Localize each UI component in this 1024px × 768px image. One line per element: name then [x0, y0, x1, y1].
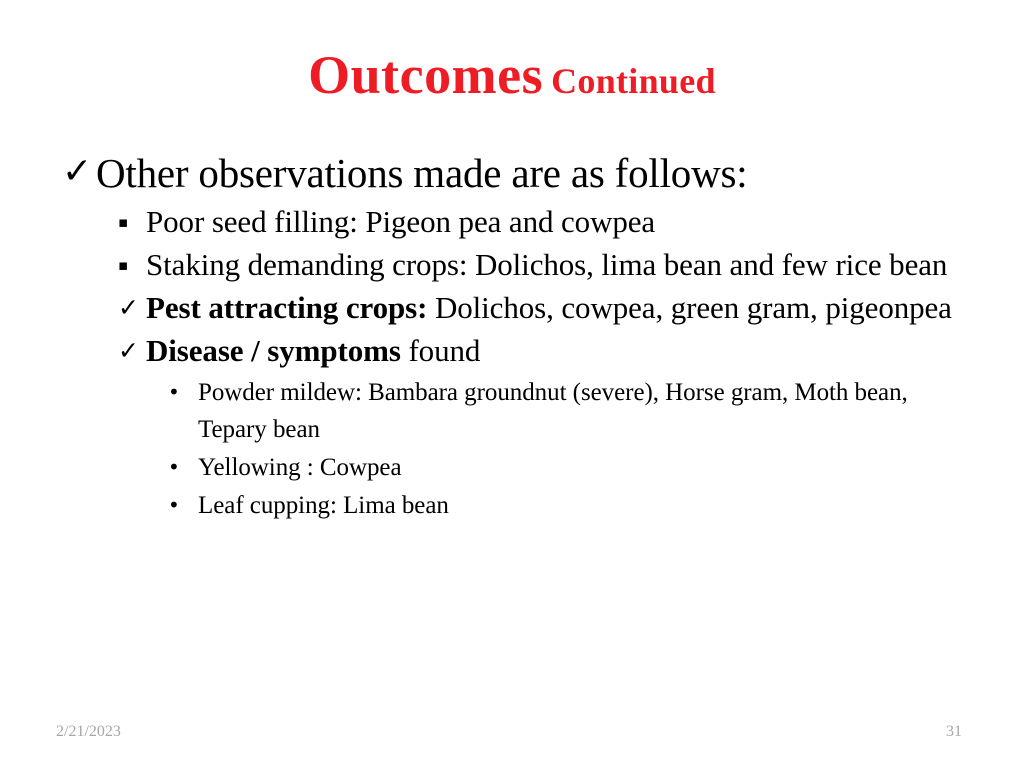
bullet-text: Poor seed filling: Pigeon pea and cowpea — [146, 202, 958, 242]
bullet-text-rest: found — [401, 333, 480, 368]
footer-date: 2/21/2023 — [56, 722, 121, 742]
dot-bullet-icon: • — [168, 374, 198, 411]
dot-bullet-icon: • — [168, 487, 198, 524]
bullet-text: Pest attracting crops: Dolichos, cowpea,… — [146, 288, 962, 328]
check-icon: ✓ — [118, 288, 146, 328]
bullet-item-level2: ▪ Staking demanding crops: Dolichos, lim… — [118, 245, 962, 285]
check-icon: ✓ — [118, 331, 146, 371]
bullet-text: Yellowing : Cowpea — [198, 449, 962, 486]
bullet-item-level3: • Leaf cupping: Lima bean — [168, 487, 962, 524]
slide-title-sub: Continued — [543, 61, 716, 101]
slide-title: OutcomesContinued — [0, 48, 1024, 102]
slide-title-main: Outcomes — [308, 45, 543, 105]
bullet-text: Powder mildew: Bambara groundnut (severe… — [198, 374, 962, 448]
bullet-item-level1: ✓ Other observations made are as follows… — [62, 150, 962, 196]
check-icon: ✓ — [62, 150, 96, 194]
square-bullet-icon: ▪ — [118, 202, 146, 242]
bullet-text: Disease / symptoms found — [146, 331, 962, 371]
bullet-text-bold: Disease / symptoms — [146, 333, 401, 368]
bullet-text: Staking demanding crops: Dolichos, lima … — [146, 245, 958, 285]
bullet-text: Other observations made are as follows: — [96, 150, 962, 196]
bullet-text: Leaf cupping: Lima bean — [198, 487, 962, 524]
bullet-item-level3: • Powder mildew: Bambara groundnut (seve… — [168, 374, 962, 448]
presentation-slide: OutcomesContinued ✓ Other observations m… — [0, 0, 1024, 768]
slide-body: ✓ Other observations made are as follows… — [62, 150, 962, 525]
bullet-item-level2: ▪ Poor seed filling: Pigeon pea and cowp… — [118, 202, 962, 242]
dot-bullet-icon: • — [168, 449, 198, 486]
footer-page-number: 31 — [946, 722, 962, 742]
bullet-item-level3: • Yellowing : Cowpea — [168, 449, 962, 486]
bullet-item-level2-check: ✓ Disease / symptoms found — [118, 331, 962, 371]
bullet-text-bold: Pest attracting crops: — [146, 290, 427, 325]
bullet-item-level2-check: ✓ Pest attracting crops: Dolichos, cowpe… — [118, 288, 962, 328]
square-bullet-icon: ▪ — [118, 245, 146, 285]
bullet-text-rest: Dolichos, cowpea, green gram, pigeonpea — [427, 290, 952, 325]
